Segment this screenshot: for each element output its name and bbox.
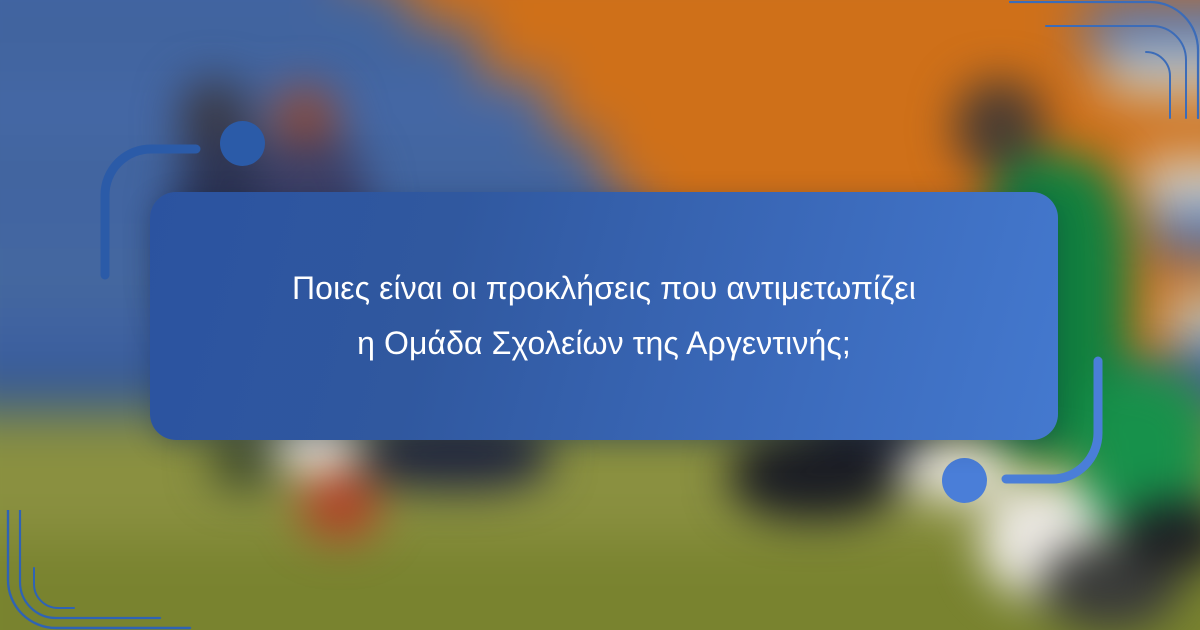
player-boot-blob <box>730 430 900 520</box>
quote-card: Ποιες είναι οι προκλήσεις που αντιμετωπί… <box>150 192 1058 440</box>
quote-line: Ποιες είναι οι προκλήσεις που αντιμετωπί… <box>209 261 999 316</box>
quote-text: Ποιες είναι οι προκλήσεις που αντιμετωπί… <box>199 261 1009 371</box>
accent-dot-bottom-right <box>942 458 987 503</box>
quote-line: η Ομάδα Σχολείων της Αργεντινής; <box>209 316 999 371</box>
ball-blob <box>300 470 380 540</box>
accent-dot-top-left <box>220 121 265 166</box>
poster-canvas: Ποιες είναι οι προκλήσεις που αντιμετωπί… <box>0 0 1200 630</box>
